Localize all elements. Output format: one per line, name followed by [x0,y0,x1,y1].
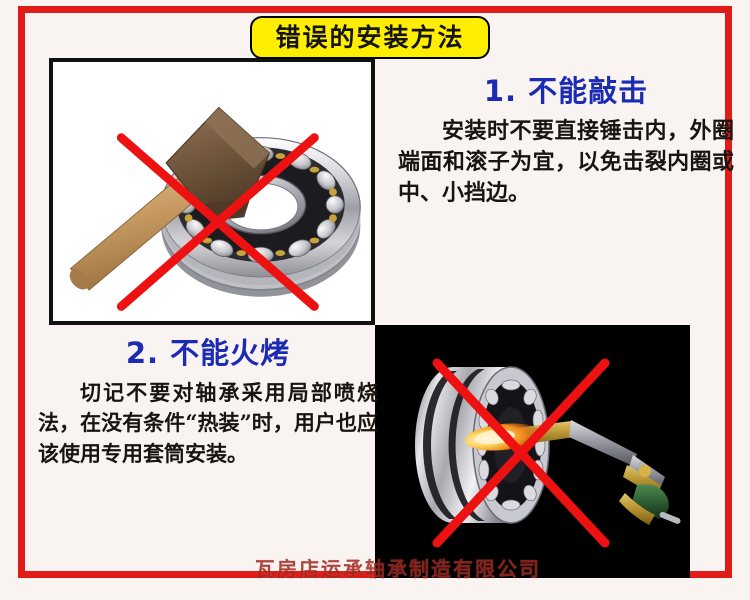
section-two-body: 切记不要对轴承采用局部喷烧法，在没有条件“热装”时，用户也应该使用专用套筒安装。 [38,378,378,469]
company-watermark: 瓦房店运承轴承制造有限公司 [255,553,675,581]
poster-root: 错误的安装方法 1. 不能敲击 安装时不要直接锤击内，外圈端面和滚子为宜，以免击… [0,0,750,600]
torch-bearing-illustration [375,325,690,578]
section-one: 1. 不能敲击 安装时不要直接锤击内，外圈端面和滚子为宜，以免击裂内圈或中、小挡… [398,76,734,210]
section-two: 2. 不能火烤 切记不要对轴承采用局部喷烧法，在没有条件“热装”时，用户也应该使… [38,338,378,469]
section-two-heading: 2. 不能火烤 [38,338,378,370]
title-banner: 错误的安装方法 [250,16,490,59]
section-one-body: 安装时不要直接锤击内，外圈端面和滚子为宜，以免击裂内圈或中、小挡边。 [398,116,734,210]
section-one-heading: 1. 不能敲击 [398,76,734,108]
hammer-striking-bearing-photo [49,58,375,325]
torch-heating-bearing-photo [375,325,690,578]
banner-title: 错误的安装方法 [275,25,464,50]
hammer-bearing-illustration [53,62,371,321]
